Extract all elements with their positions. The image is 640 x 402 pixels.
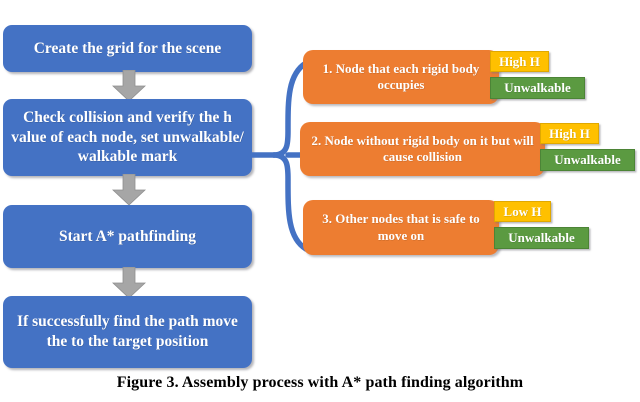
process-step-1-label: Create the grid for the scene: [34, 39, 222, 59]
figure-container: Create the grid for the scene Check coll…: [0, 0, 640, 402]
category-box-1: 1. Node that each rigid body occupies: [303, 50, 499, 104]
category-box-1-label: 1. Node that each rigid body occupies: [310, 61, 492, 94]
category-box-2-label: 2. Node without rigid body on it but wil…: [307, 133, 538, 166]
process-step-3: Start A* pathfinding: [3, 205, 252, 268]
process-step-1: Create the grid for the scene: [3, 25, 252, 72]
category-3-walkable-tag: Unwalkable: [494, 227, 589, 249]
process-step-4: If successfully find the path move the t…: [3, 296, 252, 368]
category-box-2: 2. Node without rigid body on it but wil…: [300, 122, 545, 176]
figure-caption: Figure 3. Assembly process with A* path …: [0, 374, 640, 392]
arrow-step3-to-step4: [112, 267, 146, 299]
category-3-h-tag-label: Low H: [504, 205, 542, 218]
process-step-2-label: Check collision and verify the h value o…: [11, 108, 244, 167]
process-step-4-label: If successfully find the path move the t…: [11, 312, 244, 352]
arrow-step2-to-step3: [112, 174, 146, 206]
arrow-step1-to-step2: [112, 70, 146, 102]
category-2-walkable-tag: Unwalkable: [540, 149, 635, 171]
category-box-3: 3. Other nodes that is safe to move on: [303, 200, 499, 255]
process-step-3-label: Start A* pathfinding: [59, 227, 196, 247]
category-1-walkable-tag-label: Unwalkable: [504, 81, 570, 94]
category-3-h-tag: Low H: [494, 201, 551, 222]
category-2-h-tag-label: High H: [549, 127, 590, 140]
category-1-h-tag: High H: [490, 51, 549, 72]
category-2-walkable-tag-label: Unwalkable: [554, 153, 620, 166]
category-1-h-tag-label: High H: [499, 55, 540, 68]
category-3-walkable-tag-label: Unwalkable: [508, 231, 574, 244]
category-2-h-tag: High H: [540, 123, 599, 144]
category-1-walkable-tag: Unwalkable: [490, 77, 585, 99]
process-step-2: Check collision and verify the h value o…: [3, 99, 252, 176]
category-box-3-label: 3. Other nodes that is safe to move on: [310, 211, 492, 244]
